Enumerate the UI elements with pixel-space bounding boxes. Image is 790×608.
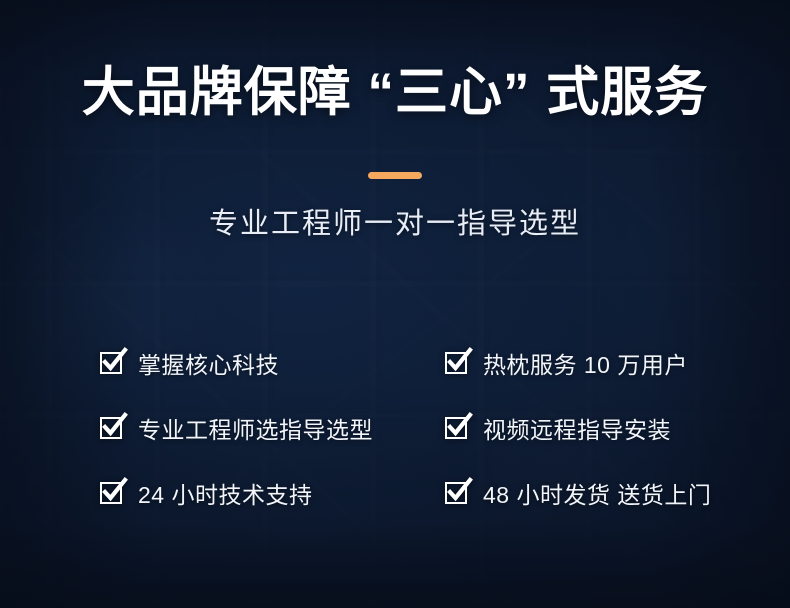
feature-label: 掌握核心科技 [138, 346, 279, 380]
feature-item-core-technology: 掌握核心科技 [100, 346, 445, 380]
banner-content: 大品牌保障 “三心” 式服务 专业工程师一对一指导选型 掌握核心科技 热枕服 [0, 0, 790, 608]
checkbox-checked-icon [100, 417, 122, 439]
checkbox-checked-icon [100, 352, 122, 374]
feature-item-48h-shipping: 48 小时发货 送货上门 [445, 476, 712, 510]
orange-divider [368, 172, 422, 179]
feature-label: 热枕服务 10 万用户 [483, 346, 688, 380]
feature-item-24h-support: 24 小时技术支持 [100, 476, 445, 510]
feature-label: 视频远程指导安装 [483, 411, 671, 445]
feature-item-engineer-selection: 专业工程师选指导选型 [100, 411, 445, 445]
feature-label: 专业工程师选指导选型 [138, 411, 373, 445]
checkbox-checked-icon [445, 352, 467, 374]
feature-item-hundred-thousand-users: 热枕服务 10 万用户 [445, 346, 712, 380]
feature-list: 掌握核心科技 热枕服务 10 万用户 专业工程师选指导选型 [100, 330, 712, 525]
checkbox-checked-icon [445, 482, 467, 504]
banner-subheadline: 专业工程师一对一指导选型 [0, 200, 790, 242]
feature-label: 48 小时发货 送货上门 [483, 476, 711, 510]
checkbox-checked-icon [100, 482, 122, 504]
checkbox-checked-icon [445, 417, 467, 439]
feature-item-video-installation: 视频远程指导安装 [445, 411, 712, 445]
banner-headline: 大品牌保障 “三心” 式服务 [0, 62, 790, 125]
service-promise-banner: 大品牌保障 “三心” 式服务 专业工程师一对一指导选型 掌握核心科技 热枕服 [0, 0, 790, 608]
feature-label: 24 小时技术支持 [138, 476, 312, 510]
